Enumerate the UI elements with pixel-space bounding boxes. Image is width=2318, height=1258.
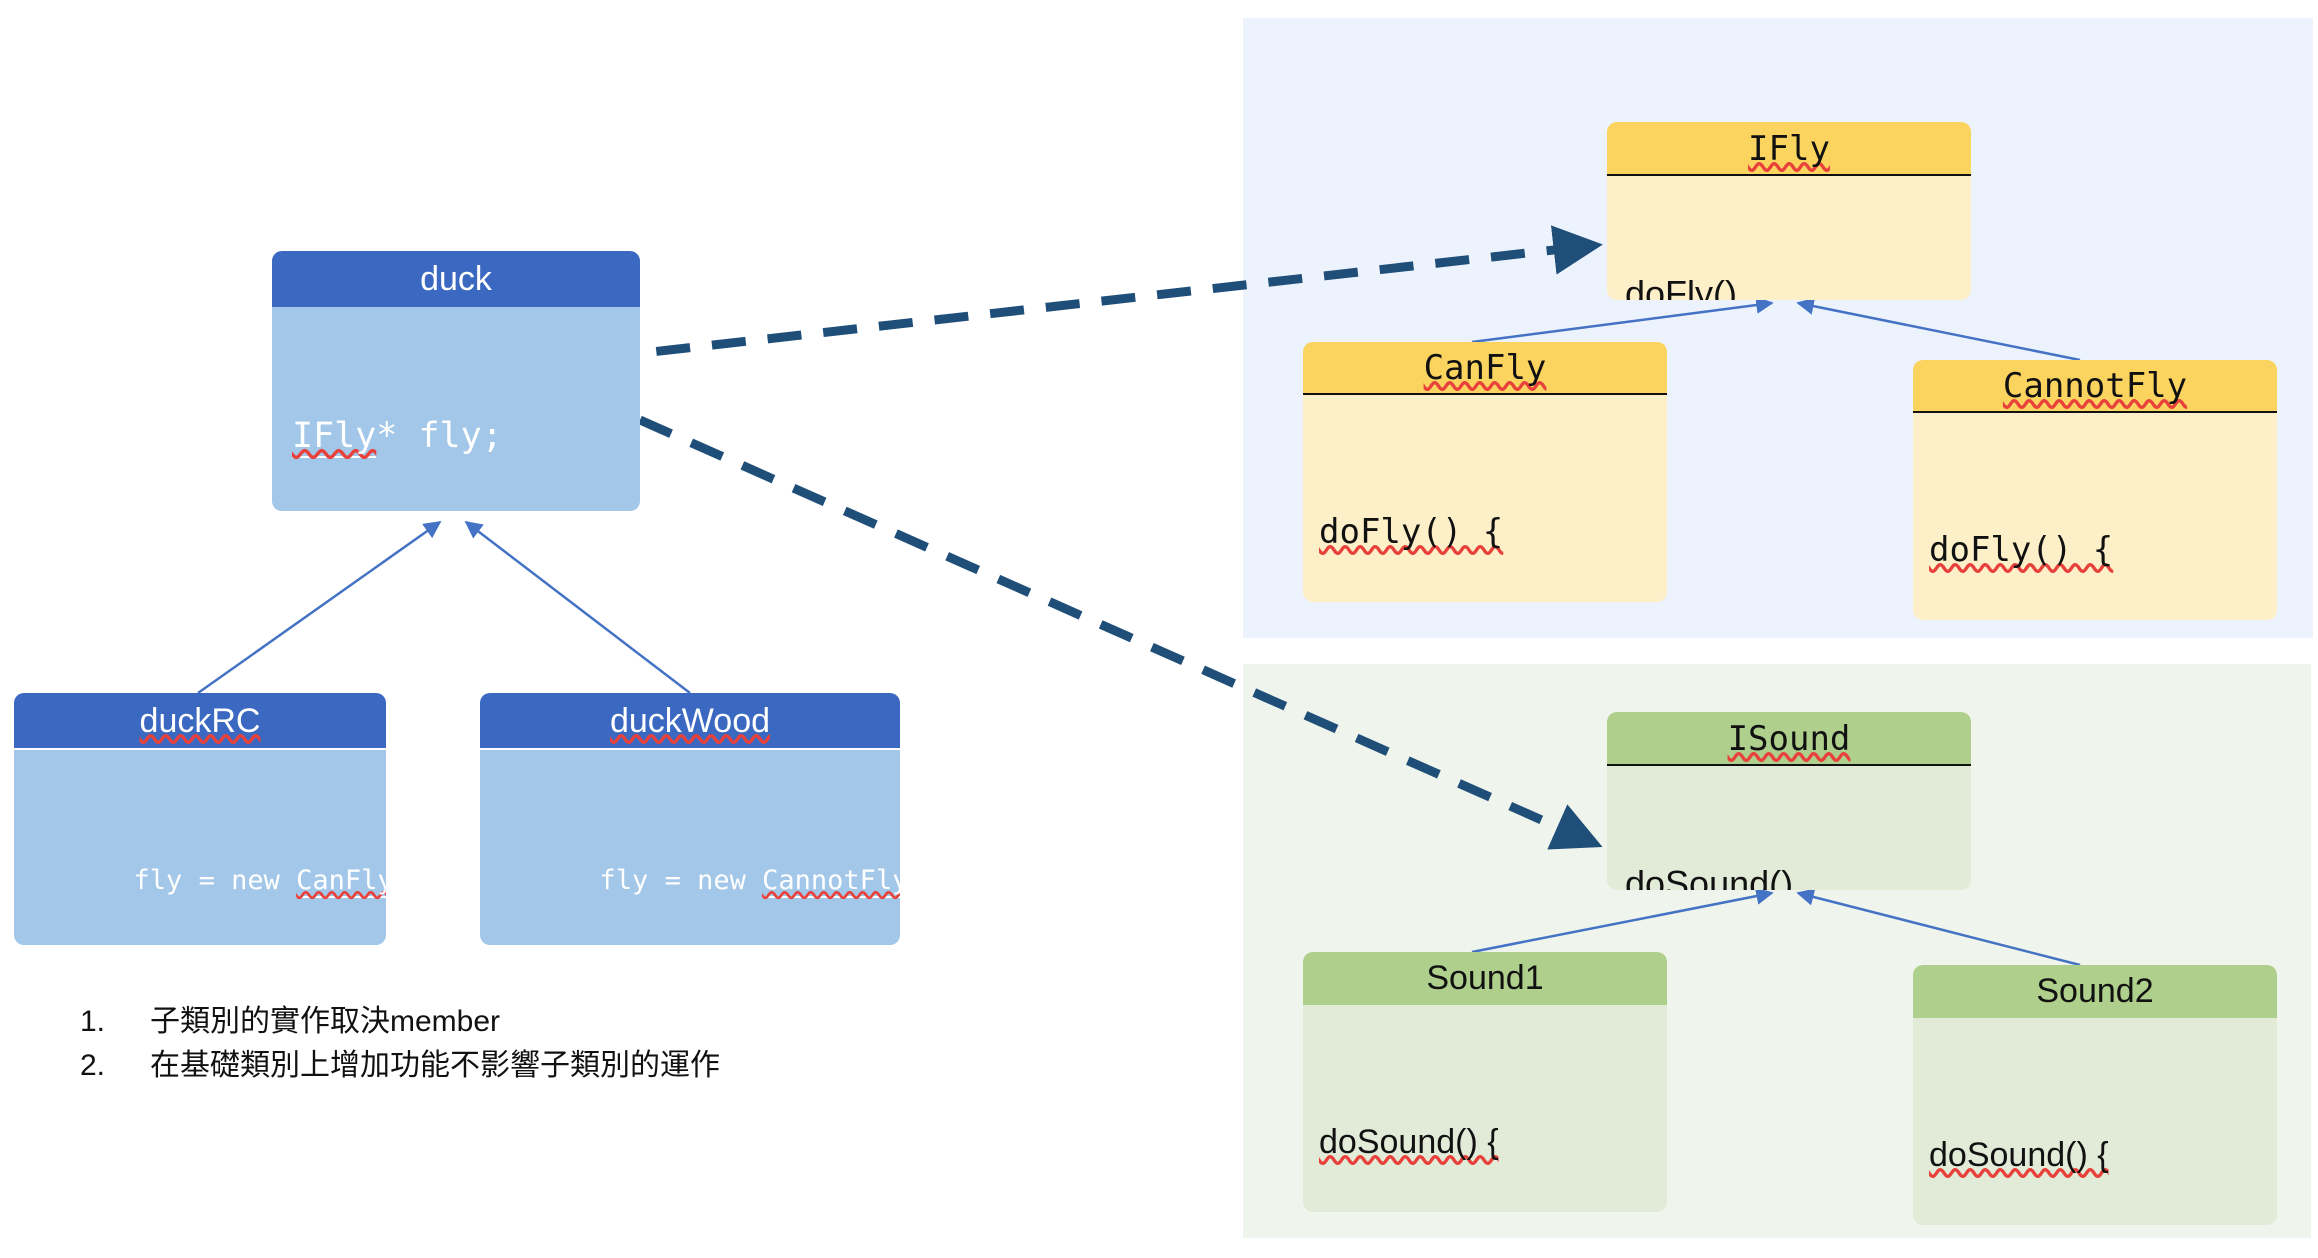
link-duckrc-to-duck <box>198 522 440 693</box>
code-row: doFly() { <box>1319 509 1667 556</box>
code-prefix: fly = new <box>600 865 763 896</box>
code-row: doSound() { <box>1319 1119 1667 1166</box>
class-body-cannotfly: doFly() { “Cannot fly” } <box>1913 413 2277 620</box>
code-type: CannotFly <box>762 865 900 898</box>
class-body-duckrc: fly = new CanFly() <box>14 750 386 945</box>
class-node-sound2[interactable]: Sound2 doSound() { “Sound2” } <box>1913 965 2277 1225</box>
class-title-sound2: Sound2 <box>1913 965 2277 1018</box>
class-node-duckrc[interactable]: duckRC fly = new CanFly() <box>14 693 386 945</box>
class-node-duck[interactable]: duck IFly* fly; Isound* sound; … <box>272 251 640 511</box>
class-members-isound: doSound() … <box>1607 766 1971 890</box>
class-title-duckrc: duckRC <box>14 693 386 750</box>
class-title-sound1: Sound1 <box>1303 952 1667 1005</box>
list-item: 1. 子類別的實作取決member <box>80 1000 720 1044</box>
class-members-duck: IFly* fly; Isound* sound; … <box>272 307 640 511</box>
note-number: 1. <box>80 1000 150 1044</box>
note-text: 子類別的實作取決member <box>150 1000 500 1044</box>
class-title-isound: ISound <box>1607 712 1971 766</box>
note-number: 2. <box>80 1044 150 1088</box>
class-title-duckwood: duckWood <box>480 693 900 750</box>
class-title-canfly: CanFly <box>1303 342 1667 395</box>
member-row: doSound() <box>1625 862 1971 890</box>
code-prefix: fly = new <box>134 865 297 896</box>
class-node-duckwood[interactable]: duckWood fly = new CannotFly() <box>480 693 900 945</box>
class-members-ifly: doFly() … <box>1607 176 1971 300</box>
class-body-duckwood: fly = new CannotFly() <box>480 750 900 945</box>
member-row: doFly() <box>1625 272 1971 300</box>
class-title-ifly: IFly <box>1607 122 1971 176</box>
code-type: CanFly <box>296 865 386 898</box>
class-node-ifly[interactable]: IFly doFly() … <box>1607 122 1971 300</box>
list-item: 2. 在基礎類別上增加功能不影響子類別的運作 <box>80 1044 720 1088</box>
class-node-sound1[interactable]: Sound1 doSound() { “Sound1” } <box>1303 952 1667 1212</box>
diagram-canvas: duck IFly* fly; Isound* sound; … duckRC … <box>0 0 2318 1258</box>
class-body-sound1: doSound() { “Sound1” } <box>1303 1005 1667 1212</box>
class-title-duck: duck <box>272 251 640 307</box>
member-row: IFly* fly; <box>292 413 620 459</box>
class-node-isound[interactable]: ISound doSound() … <box>1607 712 1971 890</box>
notes-list: 1. 子類別的實作取決member 2. 在基礎類別上增加功能不影響子類別的運作 <box>40 1000 720 1088</box>
class-node-cannotfly[interactable]: CannotFly doFly() { “Cannot fly” } <box>1913 360 2277 620</box>
class-body-sound2: doSound() { “Sound2” } <box>1913 1018 2277 1225</box>
code-row: doFly() { <box>1929 527 2277 574</box>
note-text: 在基礎類別上增加功能不影響子類別的運作 <box>150 1044 720 1088</box>
class-node-canfly[interactable]: CanFly doFly() { “Can fly” } <box>1303 342 1667 602</box>
code-row: doSound() { <box>1929 1132 2277 1179</box>
class-title-cannotfly: CannotFly <box>1913 360 2277 413</box>
link-duckwood-to-duck <box>466 522 690 693</box>
class-body-canfly: doFly() { “Can fly” } <box>1303 395 1667 602</box>
